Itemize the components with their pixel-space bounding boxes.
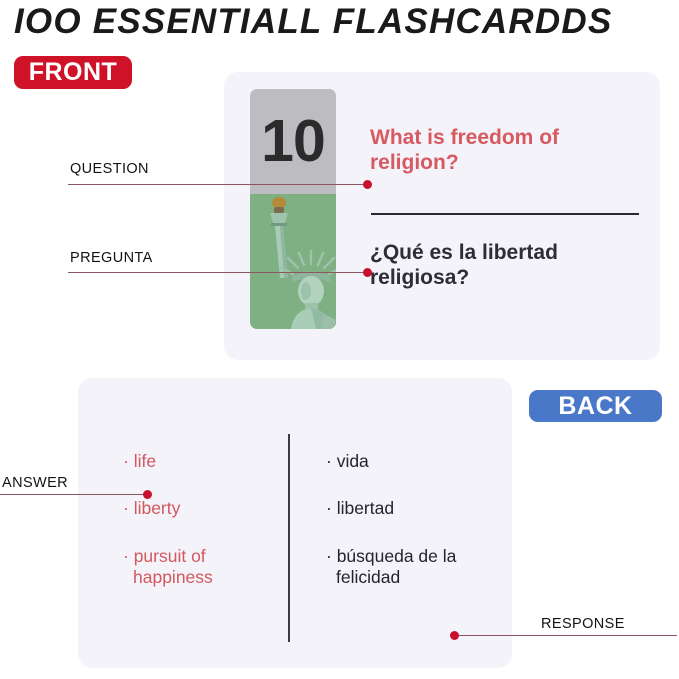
list-item: · liberty	[123, 498, 273, 519]
card-number-panel: 10	[250, 89, 336, 194]
callout-leader-line-answer	[0, 494, 146, 495]
answer-column-spanish: · vida · libertad · búsqueda de la felic…	[326, 451, 496, 614]
flashcard-front: 10	[224, 72, 660, 360]
card-number: 10	[261, 112, 325, 171]
callout-dot-answer	[143, 490, 152, 499]
callout-dot-response	[450, 631, 459, 640]
callout-leader-line-response	[454, 635, 677, 636]
question-text-spanish: ¿Qué es la libertad religiosa?	[370, 241, 645, 291]
callout-label-question: QUESTION	[70, 161, 149, 177]
callout-leader-line-pregunta	[68, 272, 366, 273]
back-card-divider	[288, 434, 290, 642]
status-badge-front: FRONT	[14, 56, 132, 89]
card-strip: 10	[250, 89, 336, 329]
callout-dot-pregunta	[363, 268, 372, 277]
answer-column-english: · life · liberty · pursuit of happiness	[123, 451, 273, 614]
status-badge-back: BACK	[529, 390, 662, 422]
list-item: · pursuit of happiness	[123, 546, 273, 589]
callout-leader-line-question	[68, 184, 366, 185]
flashcard-back: · life · liberty · pursuit of happiness …	[78, 378, 512, 668]
list-item: · life	[123, 451, 273, 472]
callout-label-response: RESPONSE	[541, 616, 625, 632]
list-item: · libertad	[326, 498, 496, 519]
callout-label-pregunta: PREGUNTA	[70, 250, 153, 266]
list-item: · búsqueda de la felicidad	[326, 546, 496, 589]
list-item: · vida	[326, 451, 496, 472]
callout-label-answer: ANSWER	[2, 475, 68, 491]
statue-of-liberty-icon	[250, 194, 336, 329]
callout-dot-question	[363, 180, 372, 189]
question-text-english: What is freedom of religion?	[370, 126, 640, 176]
page-title: IOO ESSENTIALL FLASHCARDDS	[14, 2, 612, 42]
front-card-divider	[371, 213, 639, 215]
